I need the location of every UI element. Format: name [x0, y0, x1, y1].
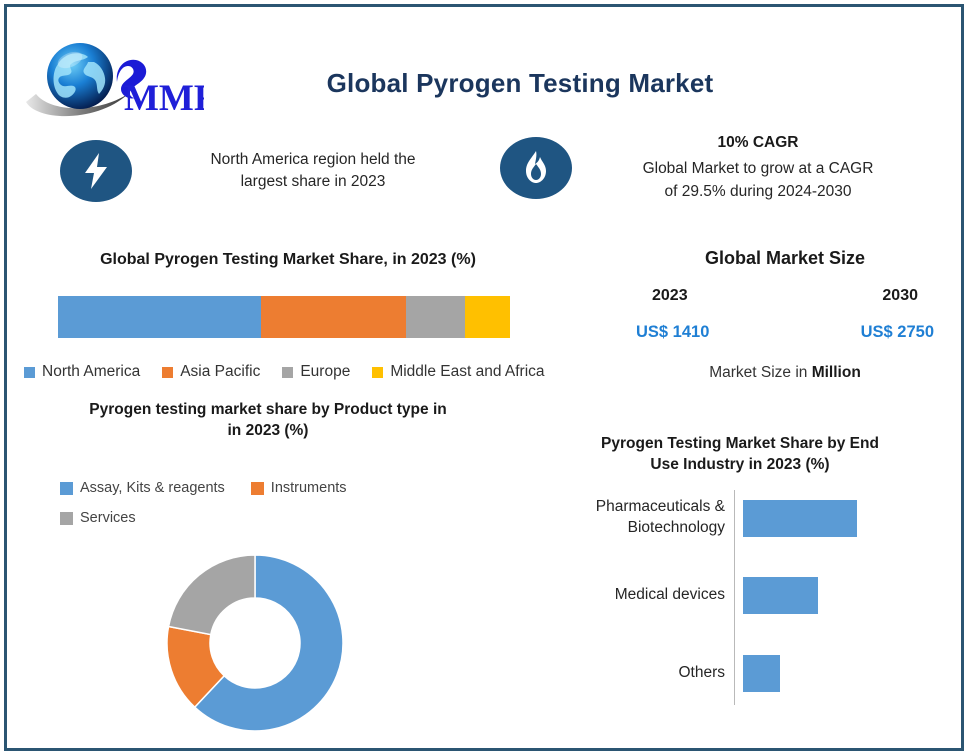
- legend-item-asia-pacific: Asia Pacific: [162, 363, 260, 381]
- legend-item-instruments: Instruments: [251, 480, 347, 496]
- table-row: Others: [545, 650, 935, 696]
- legend-label-europe: Europe: [300, 363, 350, 381]
- table-row: Pharmaceuticals & Biotechnology: [545, 495, 935, 541]
- end-use-label-line2: Biotechnology: [628, 519, 725, 536]
- market-size-heading: Global Market Size: [630, 248, 940, 269]
- market-size-unit: Million: [812, 364, 861, 381]
- market-size-unit-prefix: Market Size in: [709, 364, 812, 381]
- legend-item-north-america: North America: [24, 363, 140, 381]
- infographic-page: MMR Global Pyrogen Testing Market North …: [0, 0, 968, 755]
- legend-swatch-asia-pacific: [162, 367, 173, 378]
- fact-cagr-highlight: 10% CAGR: [586, 132, 930, 154]
- flame-icon: [500, 137, 572, 199]
- global-market-size-panel: Global Market Size 2023 2030 US$ 1410 US…: [630, 248, 940, 382]
- product-type-donut-chart: [160, 548, 350, 738]
- regional-share-legend: North America Asia Pacific Europe Middle…: [24, 363, 644, 381]
- end-use-bar-pharmaceuticals: [743, 500, 857, 537]
- legend-swatch-middle-east-africa: [372, 367, 383, 378]
- legend-label-assay-kits-reagents: Assay, Kits & reagents: [80, 480, 225, 496]
- end-use-title: Pyrogen Testing Market Share by End Use …: [540, 434, 940, 476]
- market-size-year-forecast: 2030: [882, 287, 918, 305]
- stack-segment-asia-pacific: [261, 296, 406, 338]
- end-use-title-line1: Pyrogen Testing Market Share by End: [601, 435, 879, 452]
- legend-item-assay-kits-reagents: Assay, Kits & reagents: [60, 480, 225, 496]
- stack-segment-north-america: [58, 296, 261, 338]
- end-use-label-pharmaceuticals: Pharmaceuticals & Biotechnology: [545, 497, 734, 539]
- mmr-logo: MMR: [24, 36, 204, 118]
- fact-cagr-line2: of 29.5% during 2024-2030: [664, 183, 851, 200]
- legend-label-services: Services: [80, 510, 136, 526]
- legend-swatch-north-america: [24, 367, 35, 378]
- legend-label-middle-east-africa: Middle East and Africa: [390, 363, 544, 381]
- fact-region: North America region held the largest sh…: [60, 140, 480, 202]
- product-type-legend: Assay, Kits & reagents Instruments Servi…: [60, 480, 480, 540]
- end-use-bar-others: [743, 655, 780, 692]
- legend-item-services: Services: [60, 510, 136, 526]
- end-use-bar-chart: Pharmaceuticals & Biotechnology Medical …: [545, 490, 935, 705]
- market-size-year-base: 2023: [652, 287, 688, 305]
- fact-cagr-line1: Global Market to grow at a CAGR: [643, 160, 874, 177]
- legend-swatch-instruments: [251, 482, 264, 495]
- fact-region-line2: largest share in 2023: [241, 173, 386, 190]
- fact-cagr: 10% CAGR Global Market to grow at a CAGR…: [500, 132, 930, 203]
- legend-label-instruments: Instruments: [271, 480, 347, 496]
- end-use-label-others: Others: [545, 663, 734, 684]
- page-title: Global Pyrogen Testing Market: [190, 68, 850, 99]
- lightning-bolt-icon: [60, 140, 132, 202]
- product-type-title-line1: Pyrogen testing market share by Product …: [89, 401, 446, 418]
- legend-swatch-europe: [282, 367, 293, 378]
- legend-swatch-assay-kits-reagents: [60, 482, 73, 495]
- legend-label-asia-pacific: Asia Pacific: [180, 363, 260, 381]
- market-size-value-base: US$ 1410: [636, 323, 709, 342]
- legend-swatch-services: [60, 512, 73, 525]
- legend-label-north-america: North America: [42, 363, 140, 381]
- end-use-bar-medical-devices: [743, 577, 818, 614]
- legend-item-europe: Europe: [282, 363, 350, 381]
- end-use-label-medical-devices: Medical devices: [545, 585, 734, 606]
- donut-slice-2: [169, 555, 255, 635]
- product-type-title-line2: in 2023 (%): [228, 422, 309, 439]
- stack-segment-europe: [406, 296, 465, 338]
- legend-item-middle-east-africa: Middle East and Africa: [372, 363, 544, 381]
- end-use-title-line2: Use Industry in 2023 (%): [650, 456, 829, 473]
- regional-share-bar: [58, 296, 510, 338]
- table-row: Medical devices: [545, 572, 935, 618]
- product-type-title: Pyrogen testing market share by Product …: [38, 400, 498, 442]
- regional-share-title: Global Pyrogen Testing Market Share, in …: [38, 249, 538, 271]
- market-size-value-forecast: US$ 2750: [861, 323, 934, 342]
- end-use-label-line1: Pharmaceuticals &: [596, 498, 725, 515]
- fact-region-line1: North America region held the: [210, 151, 415, 168]
- stack-segment-middle-east-africa: [465, 296, 510, 338]
